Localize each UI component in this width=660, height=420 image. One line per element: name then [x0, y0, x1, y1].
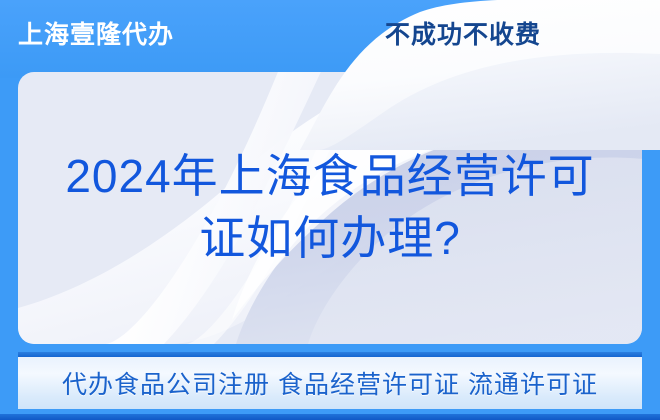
promotional-banner: 上海壹隆代办 不成功不收费 2024年上海食品经营许可 证如何办理? 代办食品公… — [0, 0, 660, 420]
footer-keyword-pill: 代办食品公司注册 食品经营许可证 流通许可证 — [18, 357, 642, 409]
brand-label: 上海壹隆代办 — [18, 18, 174, 52]
footer-keyword-bar: 代办食品公司注册 食品经营许可证 流通许可证 — [0, 348, 660, 420]
footer-underline — [0, 414, 660, 420]
slogan-label: 不成功不收费 — [385, 18, 541, 52]
footer-keywords-text: 代办食品公司注册 食品经营许可证 流通许可证 — [62, 365, 598, 401]
